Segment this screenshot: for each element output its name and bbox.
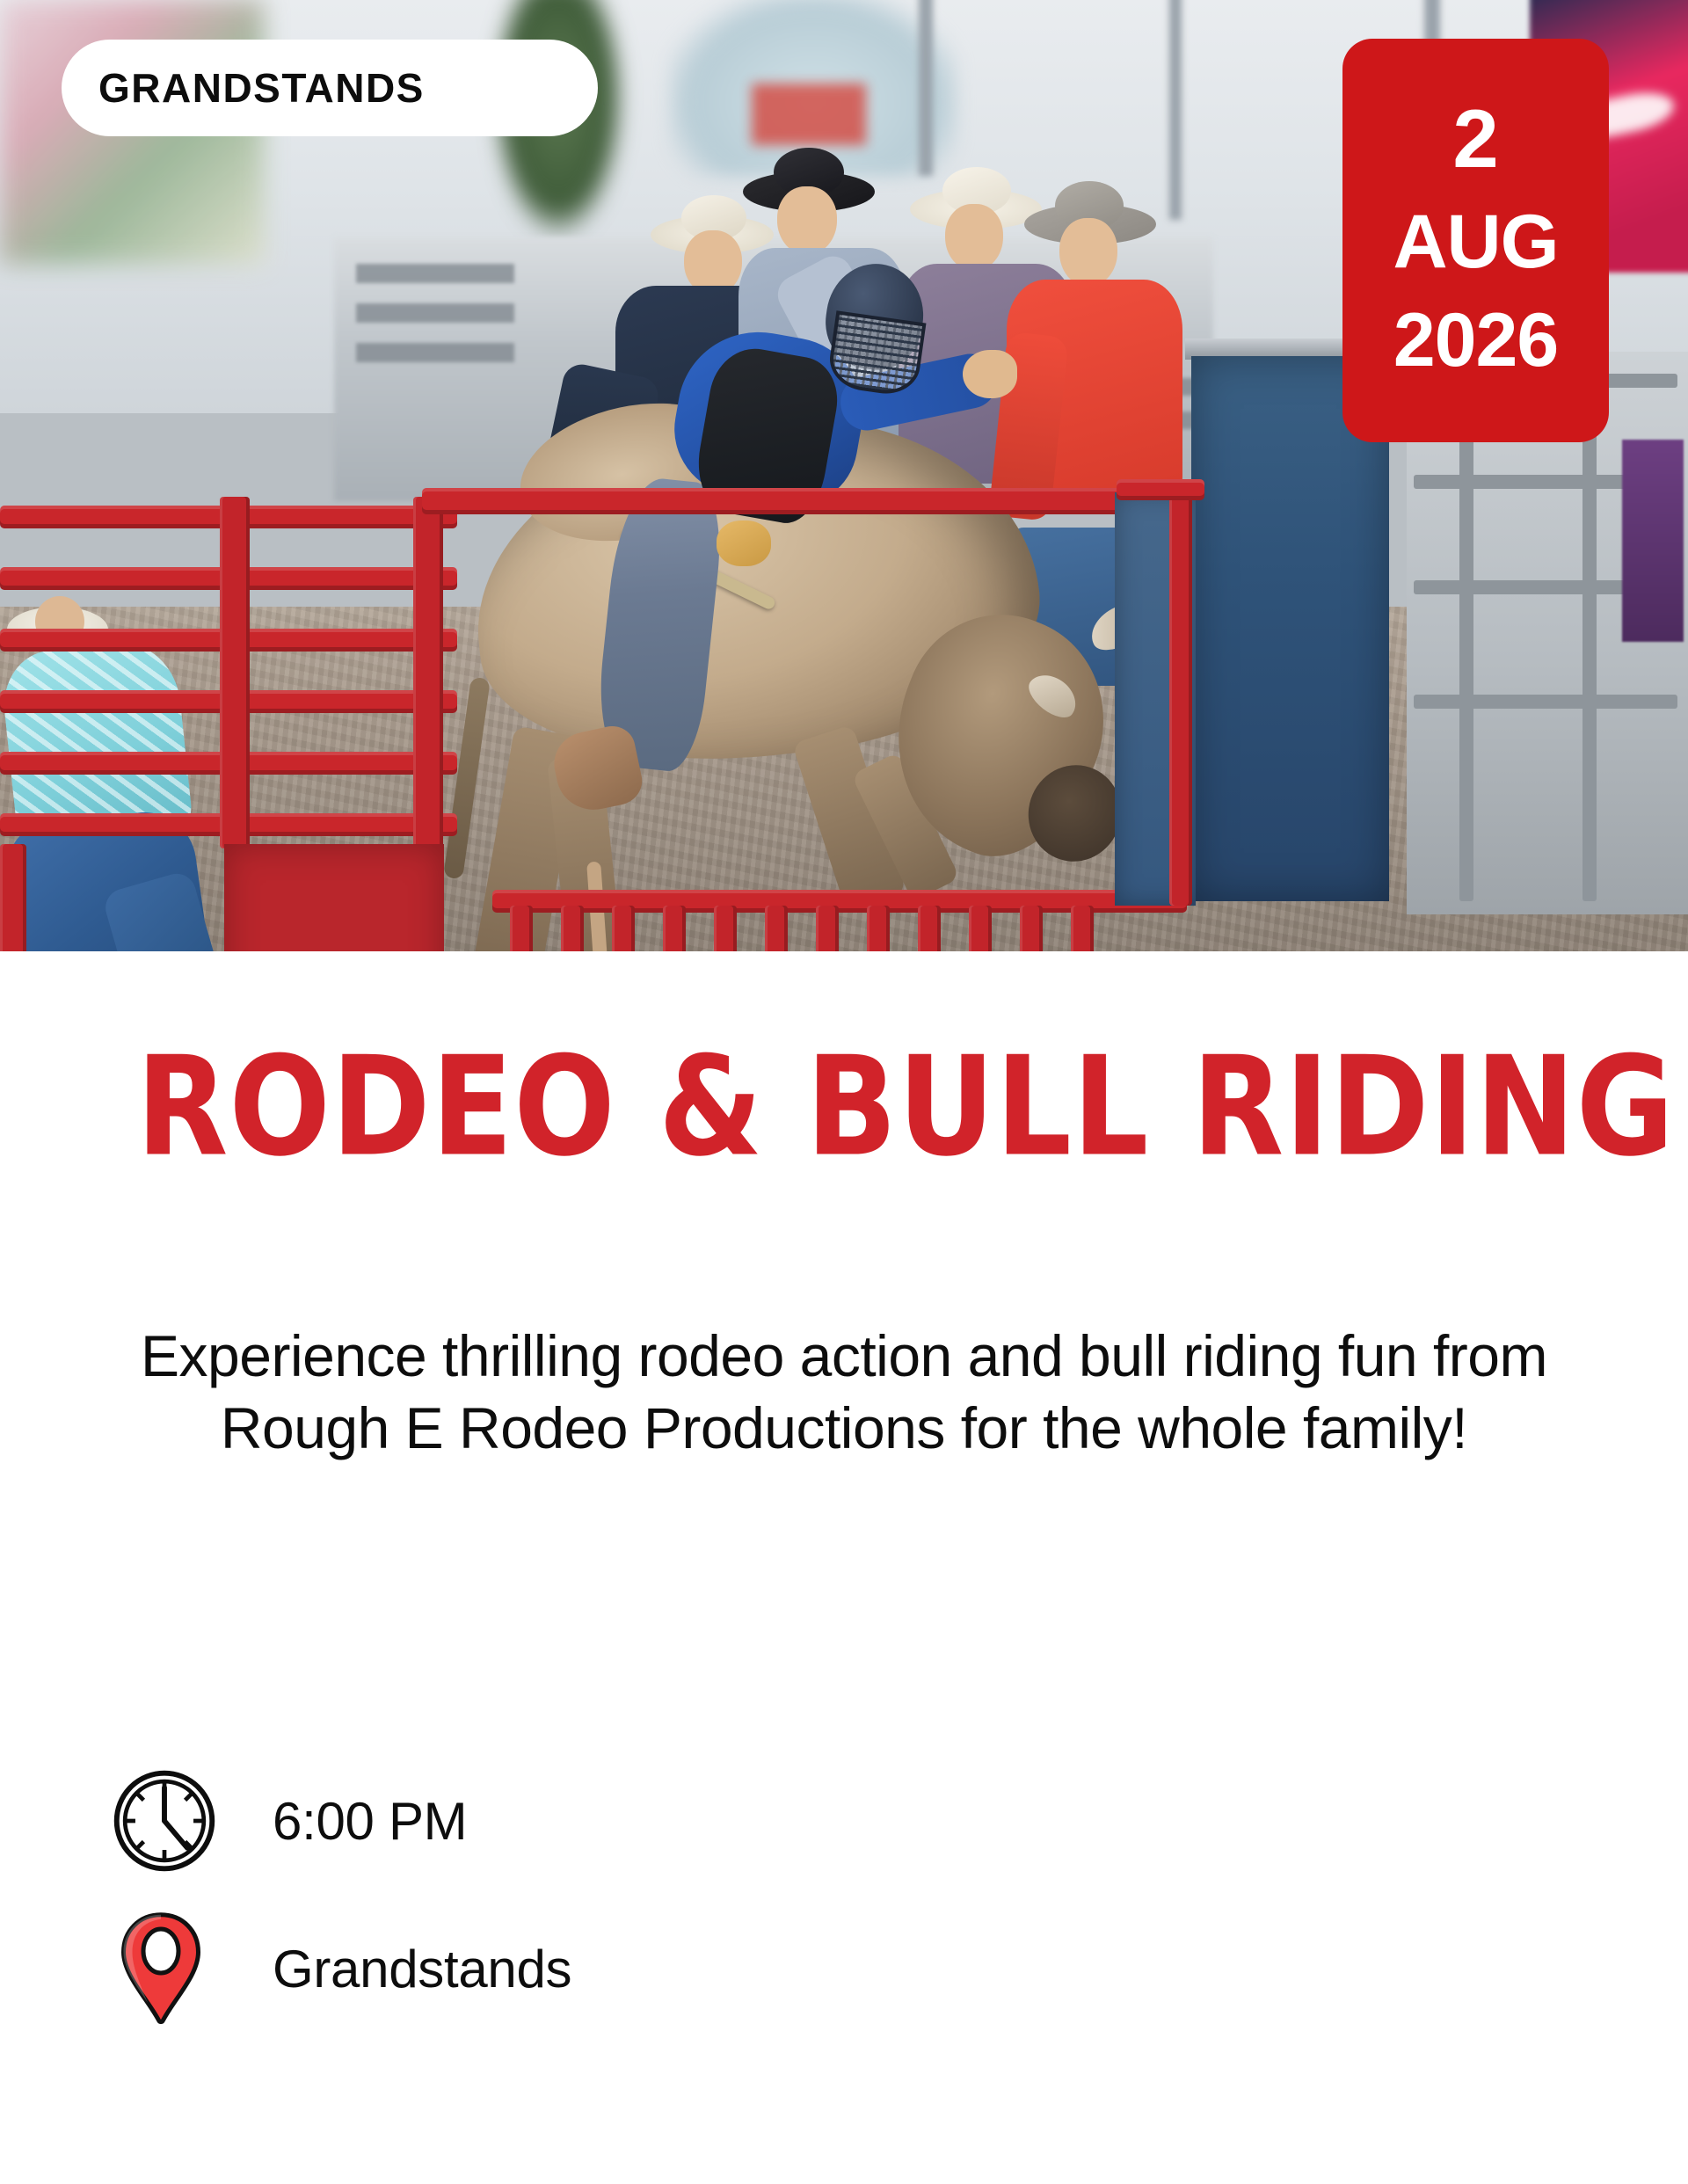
trailer-slot [356,303,514,323]
detail-row-location: Grandstands [113,1912,1607,2025]
detail-value-time: 6:00 PM [273,1791,467,1852]
detail-value-location: Grandstands [273,1939,571,1999]
venue-pill[interactable]: GRANDSTANDS [62,40,598,136]
chute-rail [1117,479,1204,500]
cowboy-head [1059,218,1117,287]
spectator-blur [1622,440,1684,642]
trailer-slot [356,264,514,283]
cowboy-head [777,186,837,255]
background-pole [1169,0,1182,220]
date-year: 2026 [1348,301,1604,380]
date-month: AUG [1348,202,1604,281]
pen-post [1459,374,1473,901]
hero-image: GRANDSTANDS 2 AUG 2026 [0,0,1688,951]
pen-bar [1414,695,1677,709]
cowboy-head [945,204,1003,271]
background-pole [919,0,933,176]
content-section: RODEO & BULL RIDING Experience thrilling… [0,951,1688,2184]
chute-post [1169,492,1192,906]
chute-top-rail [422,488,1196,514]
rider-glove [717,521,771,566]
trailer-slot [356,343,514,362]
event-title: RODEO & BULL RIDING [136,1039,1646,1176]
location-pin-icon [113,1912,227,2025]
rider-hand [963,350,1017,398]
clock-icon [113,1765,227,1877]
event-description: Experience thrilling rodeo action and bu… [141,1321,1547,1465]
date-day: 2 [1348,96,1604,183]
event-details-list: 6:00 PM Grandstands [113,1765,1607,2060]
date-badge[interactable]: 2 AUG 2026 [1342,39,1609,442]
pen-post [1582,374,1597,901]
detail-row-time: 6:00 PM [113,1765,1607,1877]
background-sign [752,84,866,145]
venue-pill-label: GRANDSTANDS [98,64,425,112]
